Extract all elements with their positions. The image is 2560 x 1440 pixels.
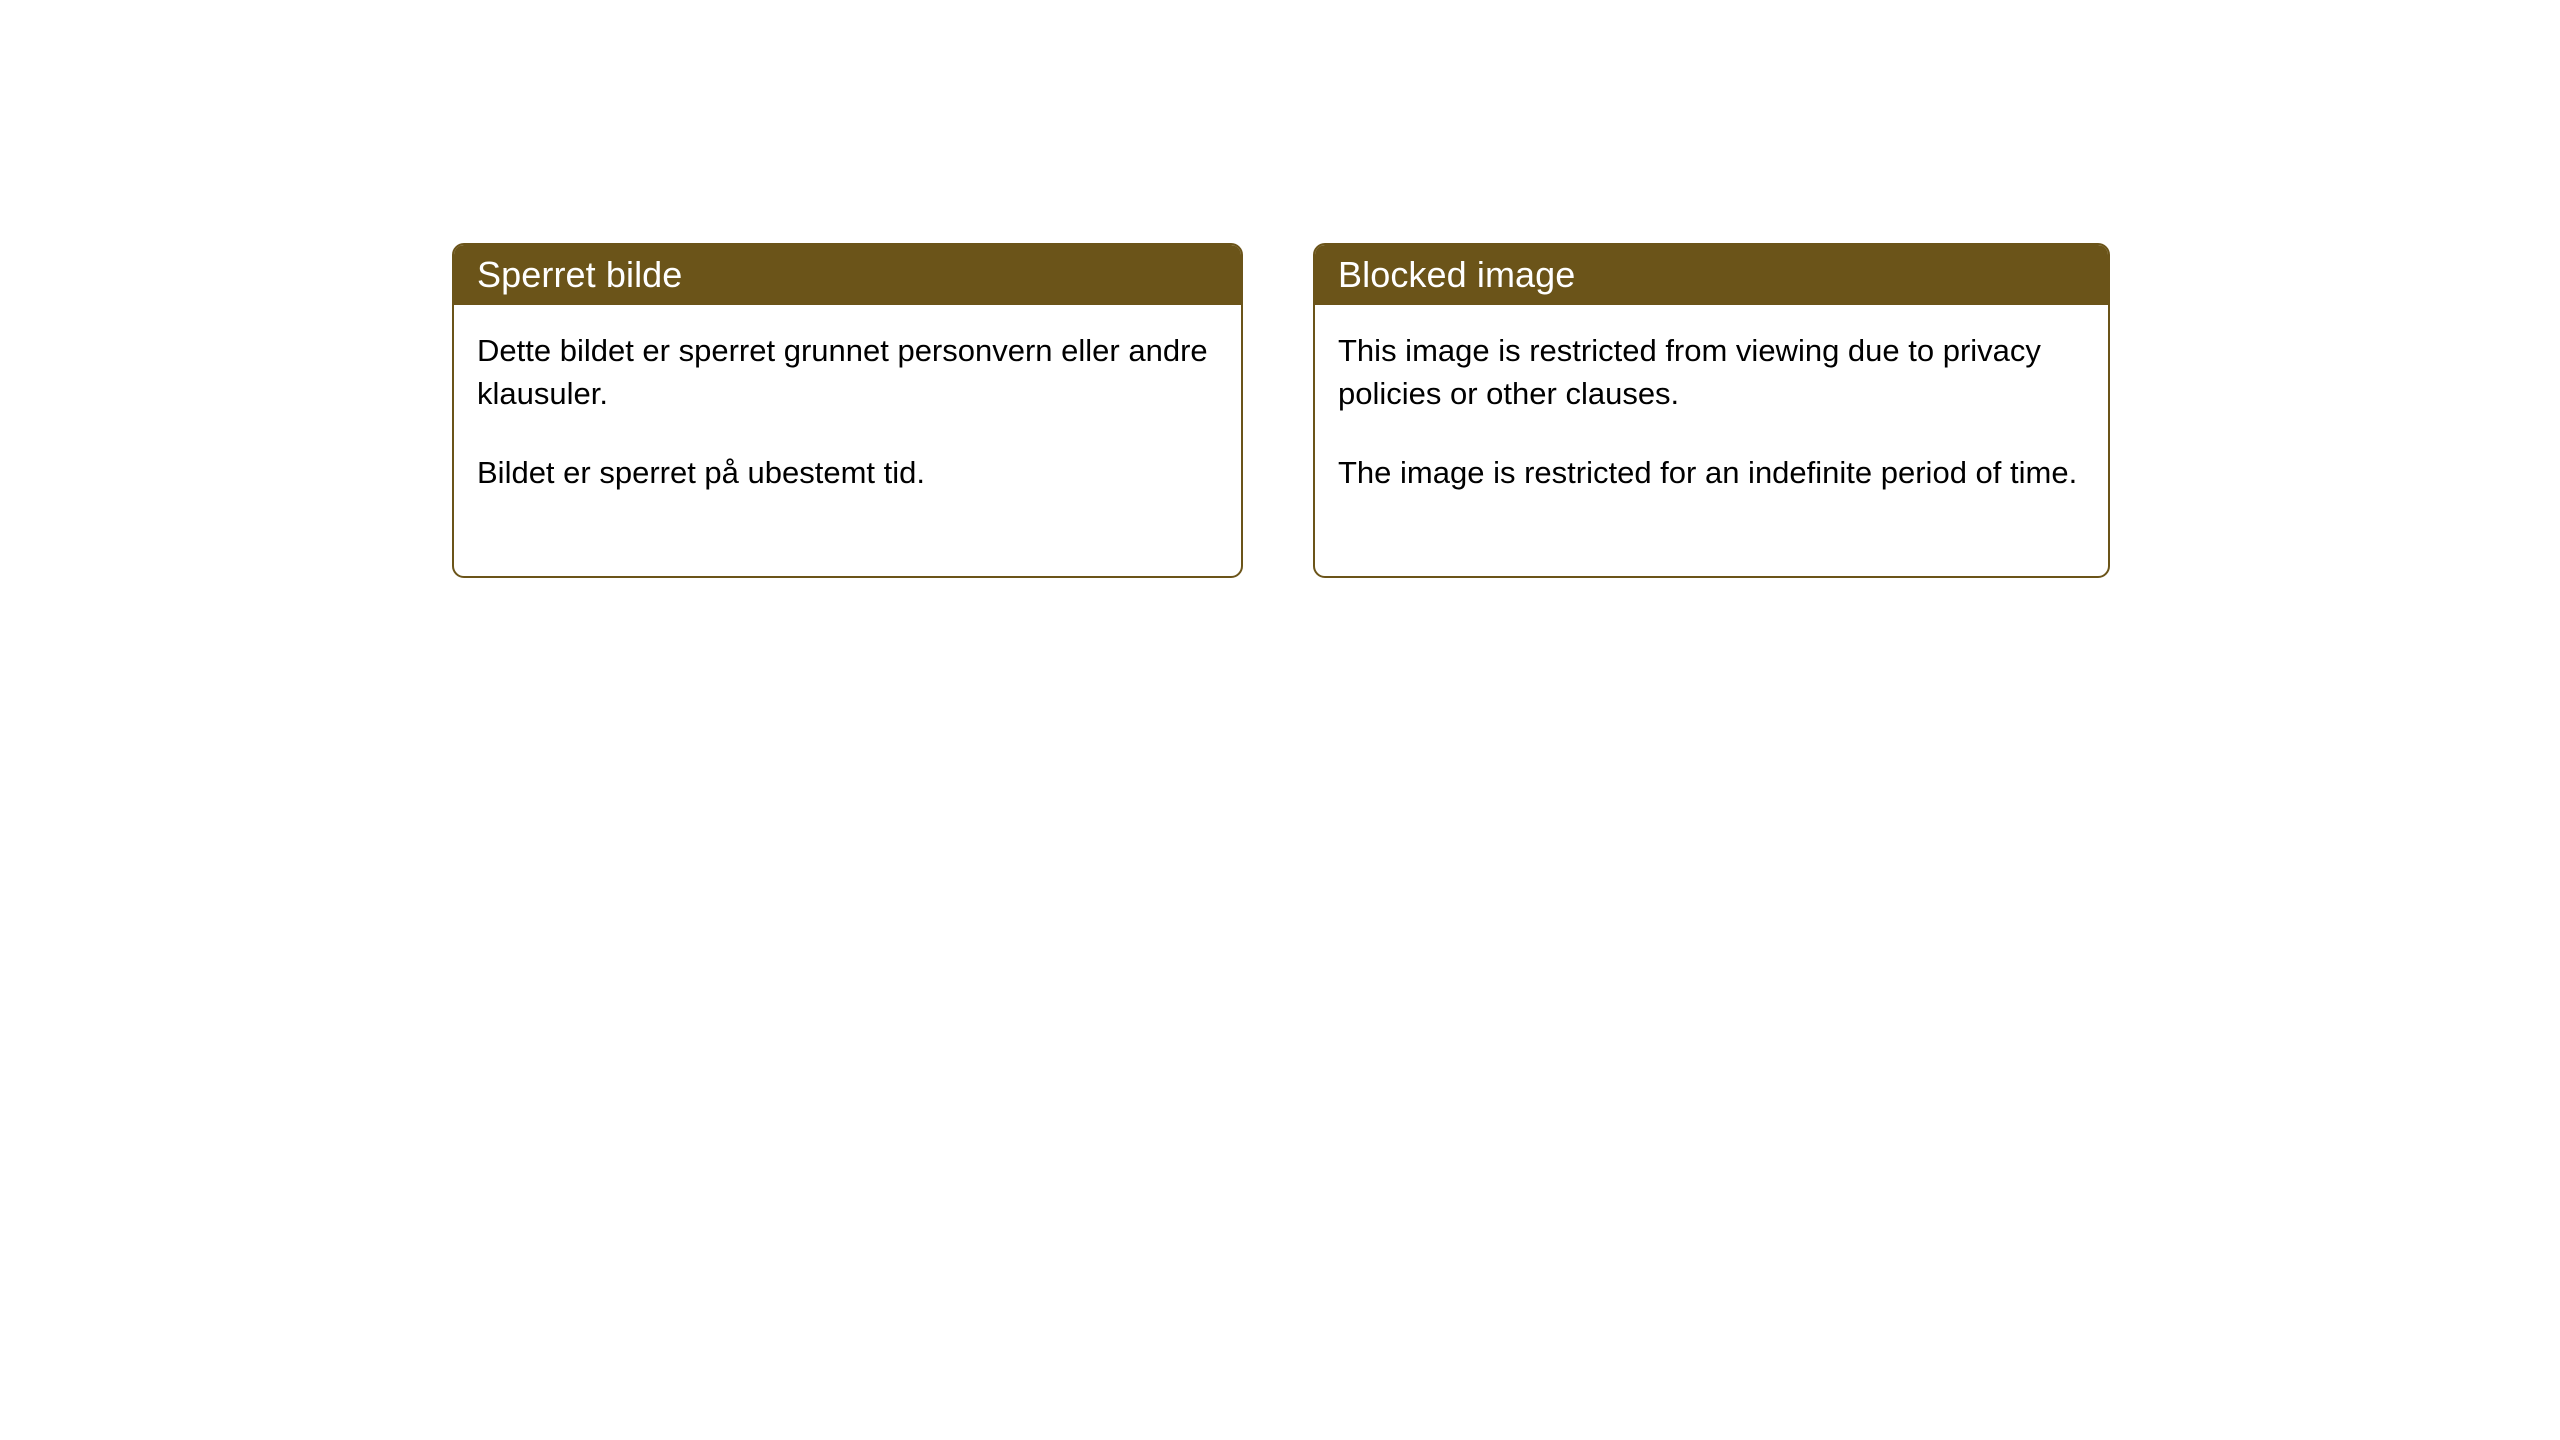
card-paragraph-english-1: This image is restricted from viewing du… [1338,329,2088,415]
card-paragraph-norwegian-2: Bildet er sperret på ubestemt tid. [477,451,1221,494]
card-header-english: Blocked image [1315,245,2108,305]
card-paragraph-english-2: The image is restricted for an indefinit… [1338,451,2088,494]
card-header-norwegian: Sperret bilde [454,245,1241,305]
card-paragraph-norwegian-1: Dette bildet er sperret grunnet personve… [477,329,1221,415]
card-title-norwegian: Sperret bilde [477,257,682,293]
card-body-norwegian: Dette bildet er sperret grunnet personve… [454,305,1241,576]
card-title-english: Blocked image [1338,257,1575,293]
card-body-english: This image is restricted from viewing du… [1315,305,2108,576]
blocked-image-notice-group: Sperret bilde Dette bildet er sperret gr… [452,243,2110,578]
blocked-image-card-norwegian: Sperret bilde Dette bildet er sperret gr… [452,243,1243,578]
blocked-image-card-english: Blocked image This image is restricted f… [1313,243,2110,578]
